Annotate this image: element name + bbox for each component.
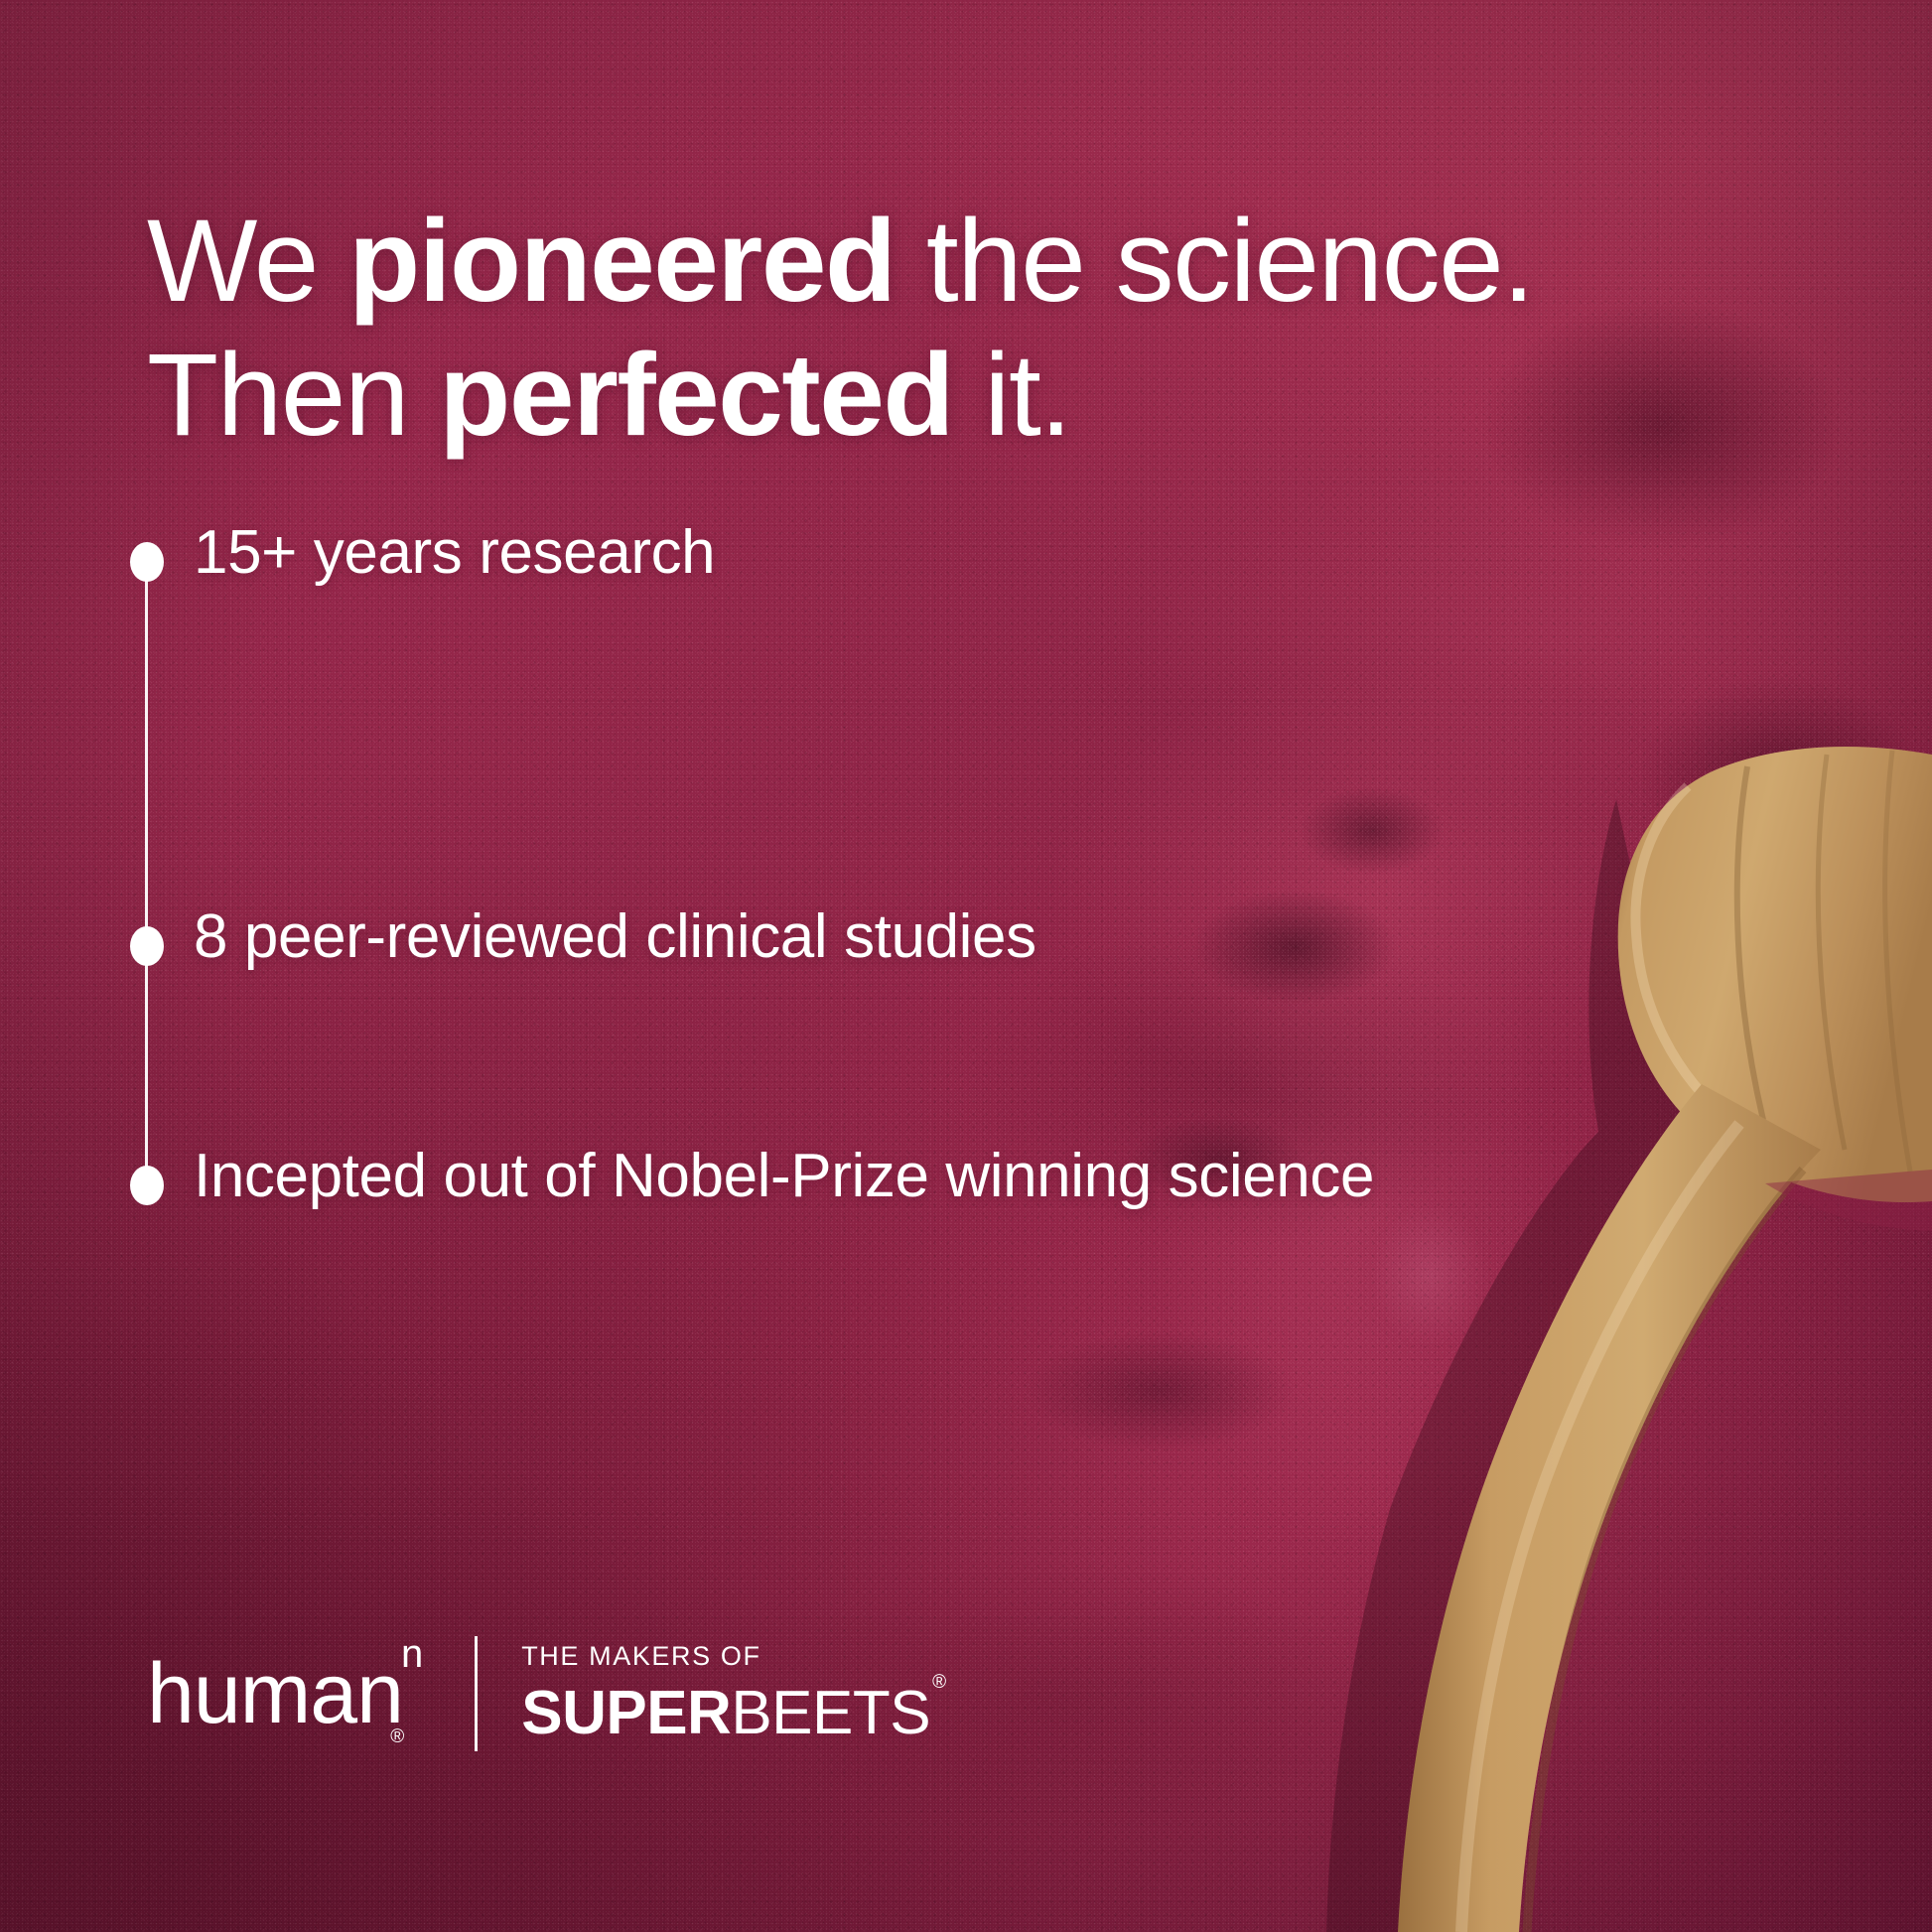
list-item-label: 15+ years research: [194, 516, 715, 589]
brand-lockup: humann® THE MAKERS OF SUPERBEETS®: [147, 1624, 944, 1763]
superbeets-wordmark: SUPERBEETS®: [521, 1683, 943, 1744]
headline: We pioneered the science. Then perfected…: [147, 195, 1815, 462]
headline-line-2: Then perfected it.: [147, 329, 1815, 463]
headline-line2-part2: it.: [953, 330, 1071, 461]
list-item: 15+ years research: [127, 516, 1418, 589]
humann-superscript-n: n: [401, 1632, 422, 1676]
bullet-dot-icon: [130, 1166, 164, 1205]
list-item-label: Incepted out of Nobel-Prize winning scie…: [194, 1140, 1374, 1212]
superbeets-beets: BEETS: [731, 1679, 930, 1747]
list-item: 8 peer-reviewed clinical studies: [127, 900, 1418, 973]
superbeets-registered-mark: ®: [932, 1672, 946, 1693]
headline-line1-part1: We: [147, 196, 348, 327]
list-item-label: 8 peer-reviewed clinical studies: [194, 900, 1036, 973]
humann-logo: humann®: [147, 1651, 445, 1736]
logo-divider: [475, 1636, 478, 1751]
humann-wordmark: human: [147, 1646, 403, 1741]
bullet-dot-icon: [130, 542, 164, 582]
list-item: Incepted out of Nobel-Prize winning scie…: [127, 1140, 1418, 1212]
benefits-list: 15+ years research 8 peer-reviewed clini…: [127, 516, 1418, 1212]
superbeets-super: SUPER: [521, 1679, 731, 1747]
headline-line1-part2: the science.: [896, 196, 1534, 327]
ad-creative: We pioneered the science. Then perfected…: [0, 0, 1932, 1932]
headline-line1-emphasis: pioneered: [348, 196, 895, 327]
bullet-dot-icon: [130, 926, 164, 966]
headline-line-1: We pioneered the science.: [147, 195, 1815, 329]
headline-line2-emphasis: perfected: [439, 330, 953, 461]
makers-of-label: THE MAKERS OF: [521, 1643, 943, 1670]
bullet-connector-line: [145, 568, 148, 1189]
headline-line2-part1: Then: [147, 330, 439, 461]
humann-registered-mark: ®: [390, 1726, 403, 1747]
superbeets-logo: THE MAKERS OF SUPERBEETS®: [521, 1643, 943, 1744]
